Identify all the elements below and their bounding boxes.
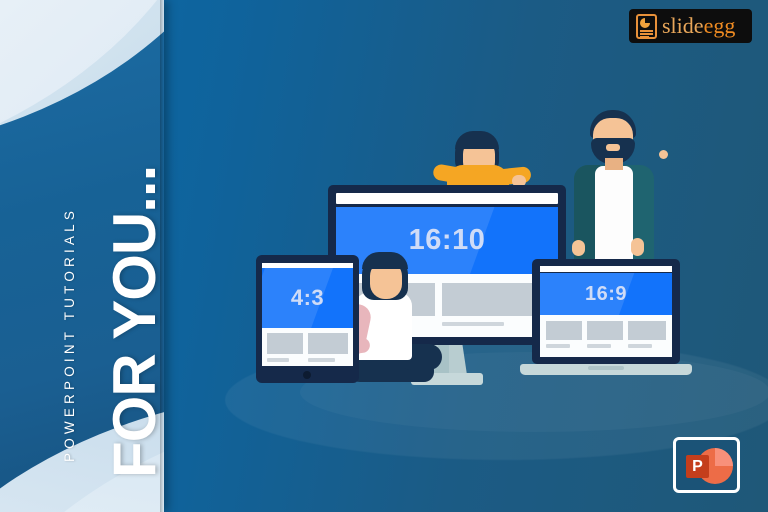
powerpoint-badge[interactable]: P [673, 437, 740, 493]
tablet-content-area [262, 328, 353, 366]
banner-eyebrow: POWERPOINT TUTORIALS [62, 207, 77, 462]
device-laptop[interactable]: 16:9 [520, 259, 692, 381]
laptop-trackpad-notch [588, 366, 624, 370]
device-tablet[interactable]: 4:3 [256, 255, 359, 383]
character-woman-leaning [435, 131, 535, 193]
laptop-content-area [540, 315, 672, 357]
ratio-label-4-3: 4:3 [262, 268, 353, 328]
powerpoint-icon: P [686, 447, 728, 485]
banner-edge-shadow [160, 0, 164, 512]
ratio-label-16-9: 16:9 [540, 273, 672, 315]
banner-headline: FOR YOU... [100, 166, 164, 478]
tablet-home-button[interactable] [303, 371, 311, 379]
tablet-screen: 4:3 [262, 268, 353, 328]
slideegg-presentation-icon [636, 14, 657, 39]
logo-text-slide: slide [662, 13, 704, 38]
logo-text-egg: egg [704, 13, 736, 38]
slideegg-logo[interactable]: slideegg [629, 9, 752, 43]
laptop-screen: 16:9 [540, 273, 672, 315]
slide-canvas: POWERPOINT TUTORIALS FOR YOU... slideegg [0, 0, 768, 512]
monitor-title-bar [336, 193, 558, 204]
banner-text-group: POWERPOINT TUTORIALS FOR YOU... [0, 0, 164, 512]
laptop-title-bar [540, 266, 672, 272]
slideegg-logo-text: slideegg [662, 15, 735, 37]
left-banner-panel: POWERPOINT TUTORIALS FOR YOU... [0, 0, 164, 512]
powerpoint-letter: P [686, 455, 709, 478]
